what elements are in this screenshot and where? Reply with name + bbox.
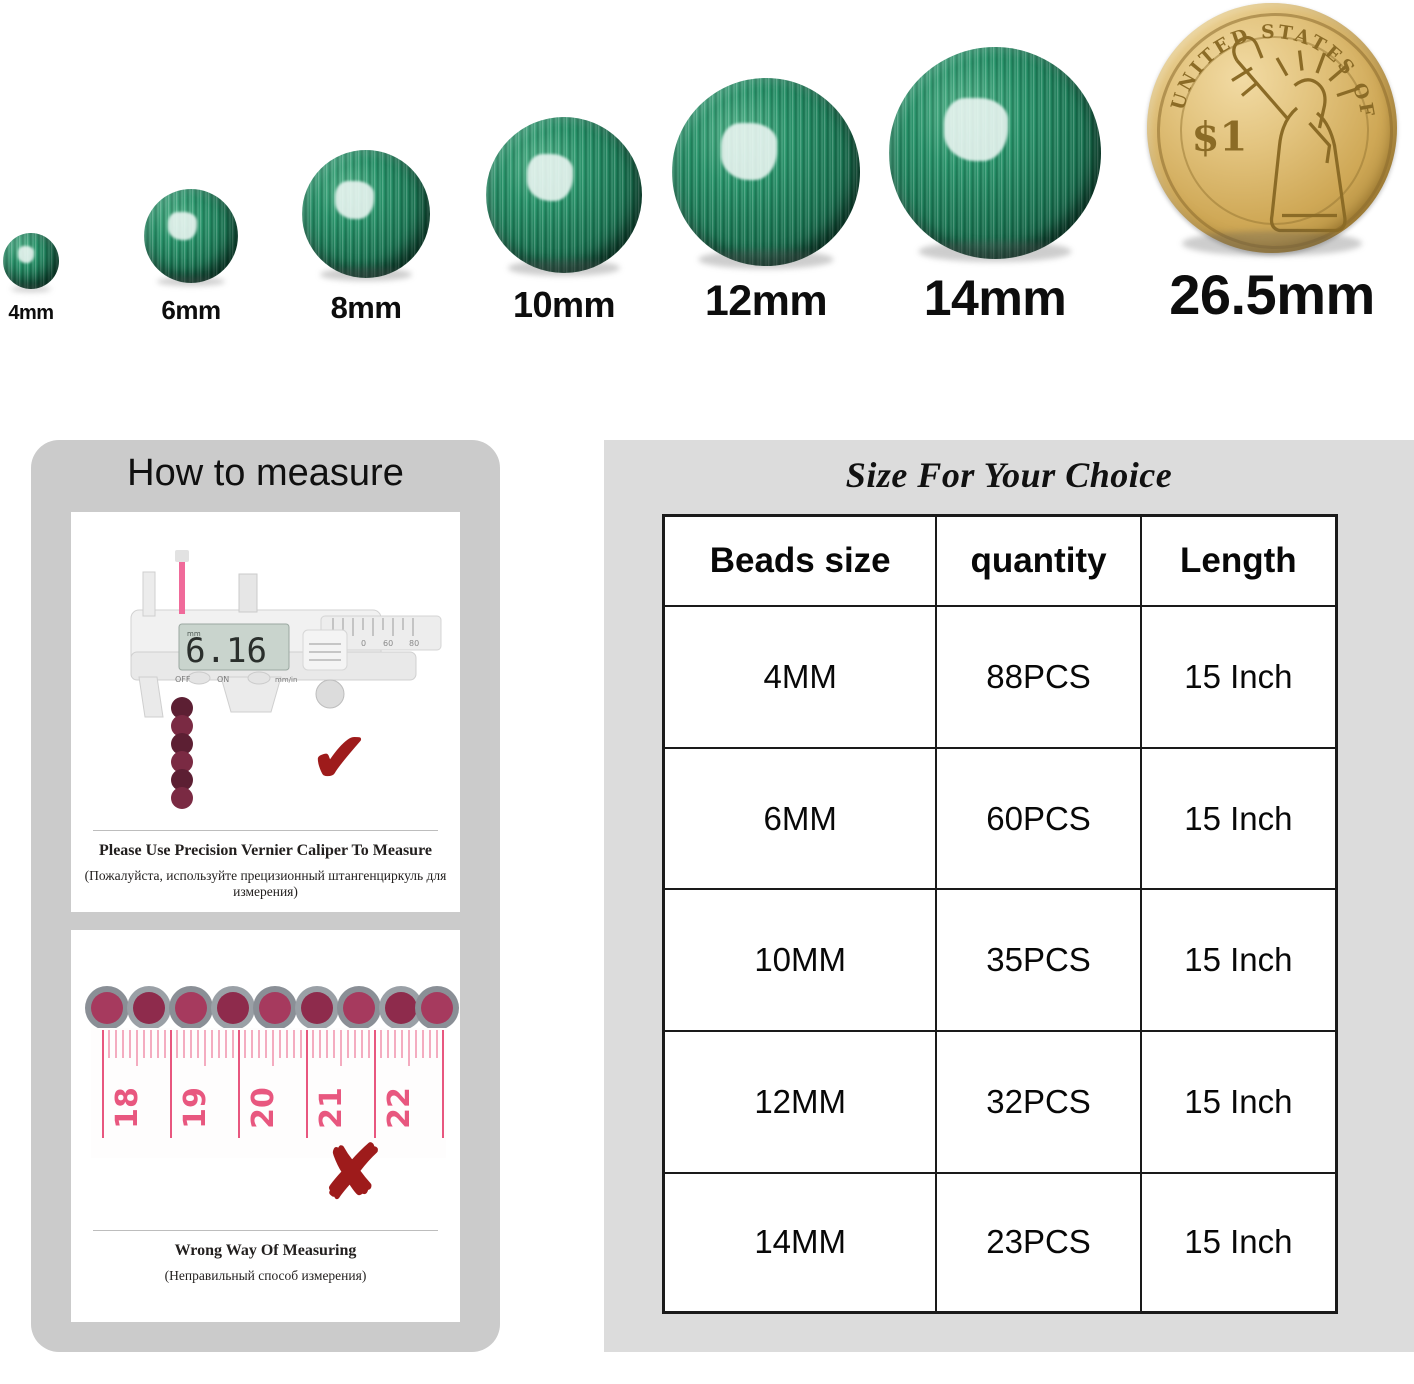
svg-text:22: 22 bbox=[382, 1087, 417, 1129]
size-table: Beads size quantity Length 4MM 88PCS 15 … bbox=[665, 517, 1335, 1311]
size-table-title: Size For Your Choice bbox=[604, 454, 1414, 496]
svg-text:80: 80 bbox=[409, 639, 419, 648]
caliper-caption-en: Please Use Precision Vernier Caliper To … bbox=[71, 842, 460, 860]
bead-size-label: 8mm bbox=[331, 292, 402, 323]
malachite-bead bbox=[672, 78, 860, 266]
tape-measure-photo: 18 19 20 21 22 bbox=[71, 948, 460, 1178]
bead-size-label: 4mm bbox=[8, 303, 53, 323]
bead-visual-holder bbox=[672, 78, 860, 266]
caption-divider-wrong bbox=[93, 1230, 438, 1231]
malachite-bead bbox=[486, 117, 642, 273]
table-row: 14MM 23PCS 15 Inch bbox=[665, 1173, 1335, 1311]
svg-text:OFF: OFF bbox=[175, 675, 191, 684]
cell-length: 15 Inch bbox=[1141, 606, 1335, 748]
bead-visual-holder bbox=[889, 47, 1101, 259]
table-row: 6MM 60PCS 15 Inch bbox=[665, 748, 1335, 890]
bead-visual-holder bbox=[302, 150, 430, 278]
bottom-section: How to measure bbox=[0, 345, 1414, 1384]
bead-drop-shadow bbox=[699, 250, 834, 269]
cell-quantity: 88PCS bbox=[936, 606, 1140, 748]
svg-text:60: 60 bbox=[383, 639, 393, 648]
bead-size-label: 6mm bbox=[161, 297, 220, 323]
caliper-photo-panel: 0 60 80 6.16 mm bbox=[71, 512, 460, 912]
svg-text:21: 21 bbox=[314, 1087, 349, 1129]
bead-size-label: 12mm bbox=[705, 280, 827, 323]
bead-drop-shadow bbox=[1182, 231, 1362, 256]
table-header-row: Beads size quantity Length bbox=[665, 517, 1335, 606]
bead-size-label: 26.5mm bbox=[1169, 267, 1375, 323]
bead-size-item-12mm: 12mm bbox=[672, 78, 860, 345]
bead-drop-shadow bbox=[919, 241, 1072, 262]
how-to-measure-card: How to measure bbox=[31, 440, 500, 1352]
table-row: 4MM 88PCS 15 Inch bbox=[665, 606, 1335, 748]
column-header-quantity: quantity bbox=[936, 517, 1140, 606]
bead-drop-shadow bbox=[320, 268, 412, 281]
bead-size-label: 14mm bbox=[924, 273, 1067, 323]
malachite-bead bbox=[144, 189, 238, 283]
bead-size-item-4mm: 4mm bbox=[3, 233, 59, 345]
cell-length: 15 Inch bbox=[1141, 1031, 1335, 1173]
cell-beads-size: 12MM bbox=[665, 1031, 936, 1173]
tape-caption-en: Wrong Way Of Measuring bbox=[71, 1242, 460, 1260]
bead-size-item-8mm: 8mm bbox=[302, 150, 430, 345]
cell-length: 15 Inch bbox=[1141, 748, 1335, 890]
cell-quantity: 60PCS bbox=[936, 748, 1140, 890]
bead-size-comparison-row: 4mm6mm8mm10mm12mm14mmUNITED STATES OF AM… bbox=[0, 0, 1414, 345]
bead-size-item-14mm: 14mm bbox=[889, 47, 1101, 345]
bead-size-item-26-5mm: UNITED STATES OF AMERICA$126.5mm bbox=[1147, 3, 1397, 345]
tape-caption-ru: (Неправильный способ измерения) bbox=[71, 1268, 460, 1284]
svg-text:mm: mm bbox=[187, 630, 201, 638]
bead-visual-holder: UNITED STATES OF AMERICA$1 bbox=[1147, 3, 1397, 253]
bead-drop-shadow bbox=[508, 260, 620, 276]
svg-text:0: 0 bbox=[361, 639, 366, 648]
vernier-caliper-photo: 0 60 80 6.16 mm bbox=[71, 512, 460, 812]
coin-engraving: UNITED STATES OF AMERICA$1 bbox=[1147, 3, 1397, 253]
us-dollar-coin: UNITED STATES OF AMERICA$1 bbox=[1147, 3, 1397, 253]
malachite-bead bbox=[302, 150, 430, 278]
malachite-bead bbox=[889, 47, 1101, 259]
svg-text:20: 20 bbox=[246, 1087, 281, 1129]
svg-text:18: 18 bbox=[110, 1087, 145, 1129]
bead-size-label: 10mm bbox=[513, 287, 615, 323]
table-row: 10MM 35PCS 15 Inch bbox=[665, 889, 1335, 1031]
svg-text:mm/in: mm/in bbox=[275, 676, 297, 684]
how-to-measure-title: How to measure bbox=[31, 452, 500, 495]
cell-beads-size: 10MM bbox=[665, 889, 936, 1031]
malachite-bead bbox=[3, 233, 59, 289]
cell-quantity: 35PCS bbox=[936, 889, 1140, 1031]
check-mark-icon: ✔ bbox=[311, 724, 368, 792]
bead-size-item-6mm: 6mm bbox=[144, 189, 238, 345]
size-for-your-choice-card: Size For Your Choice Beads size quantity… bbox=[604, 440, 1414, 1352]
cell-beads-size: 4MM bbox=[665, 606, 936, 748]
cell-beads-size: 14MM bbox=[665, 1173, 936, 1311]
x-mark-icon: ✘ bbox=[321, 1136, 383, 1210]
size-table-container: Beads size quantity Length 4MM 88PCS 15 … bbox=[662, 514, 1338, 1314]
table-row: 12MM 32PCS 15 Inch bbox=[665, 1031, 1335, 1173]
svg-text:ON: ON bbox=[217, 675, 229, 684]
bead-drop-shadow bbox=[157, 277, 225, 286]
caliper-caption-ru: (Пожалуйста, используйте прецизионный шт… bbox=[71, 868, 460, 900]
cell-quantity: 32PCS bbox=[936, 1031, 1140, 1173]
bead-visual-holder bbox=[144, 189, 238, 283]
column-header-beads-size: Beads size bbox=[665, 517, 936, 606]
cell-length: 15 Inch bbox=[1141, 889, 1335, 1031]
bead-drop-shadow bbox=[11, 286, 51, 292]
caption-divider-correct bbox=[93, 830, 438, 831]
bead-visual-holder bbox=[3, 233, 59, 289]
bead-size-item-10mm: 10mm bbox=[486, 117, 642, 345]
tape-measure-photo-panel: 18 19 20 21 22 ✘ Wrong Way Of Measuring … bbox=[71, 930, 460, 1322]
cell-quantity: 23PCS bbox=[936, 1173, 1140, 1311]
cell-beads-size: 6MM bbox=[665, 748, 936, 890]
column-header-length: Length bbox=[1141, 517, 1335, 606]
svg-text:19: 19 bbox=[178, 1087, 213, 1129]
svg-text:$1: $1 bbox=[1192, 114, 1248, 161]
cell-length: 15 Inch bbox=[1141, 1173, 1335, 1311]
bead-visual-holder bbox=[486, 117, 642, 273]
